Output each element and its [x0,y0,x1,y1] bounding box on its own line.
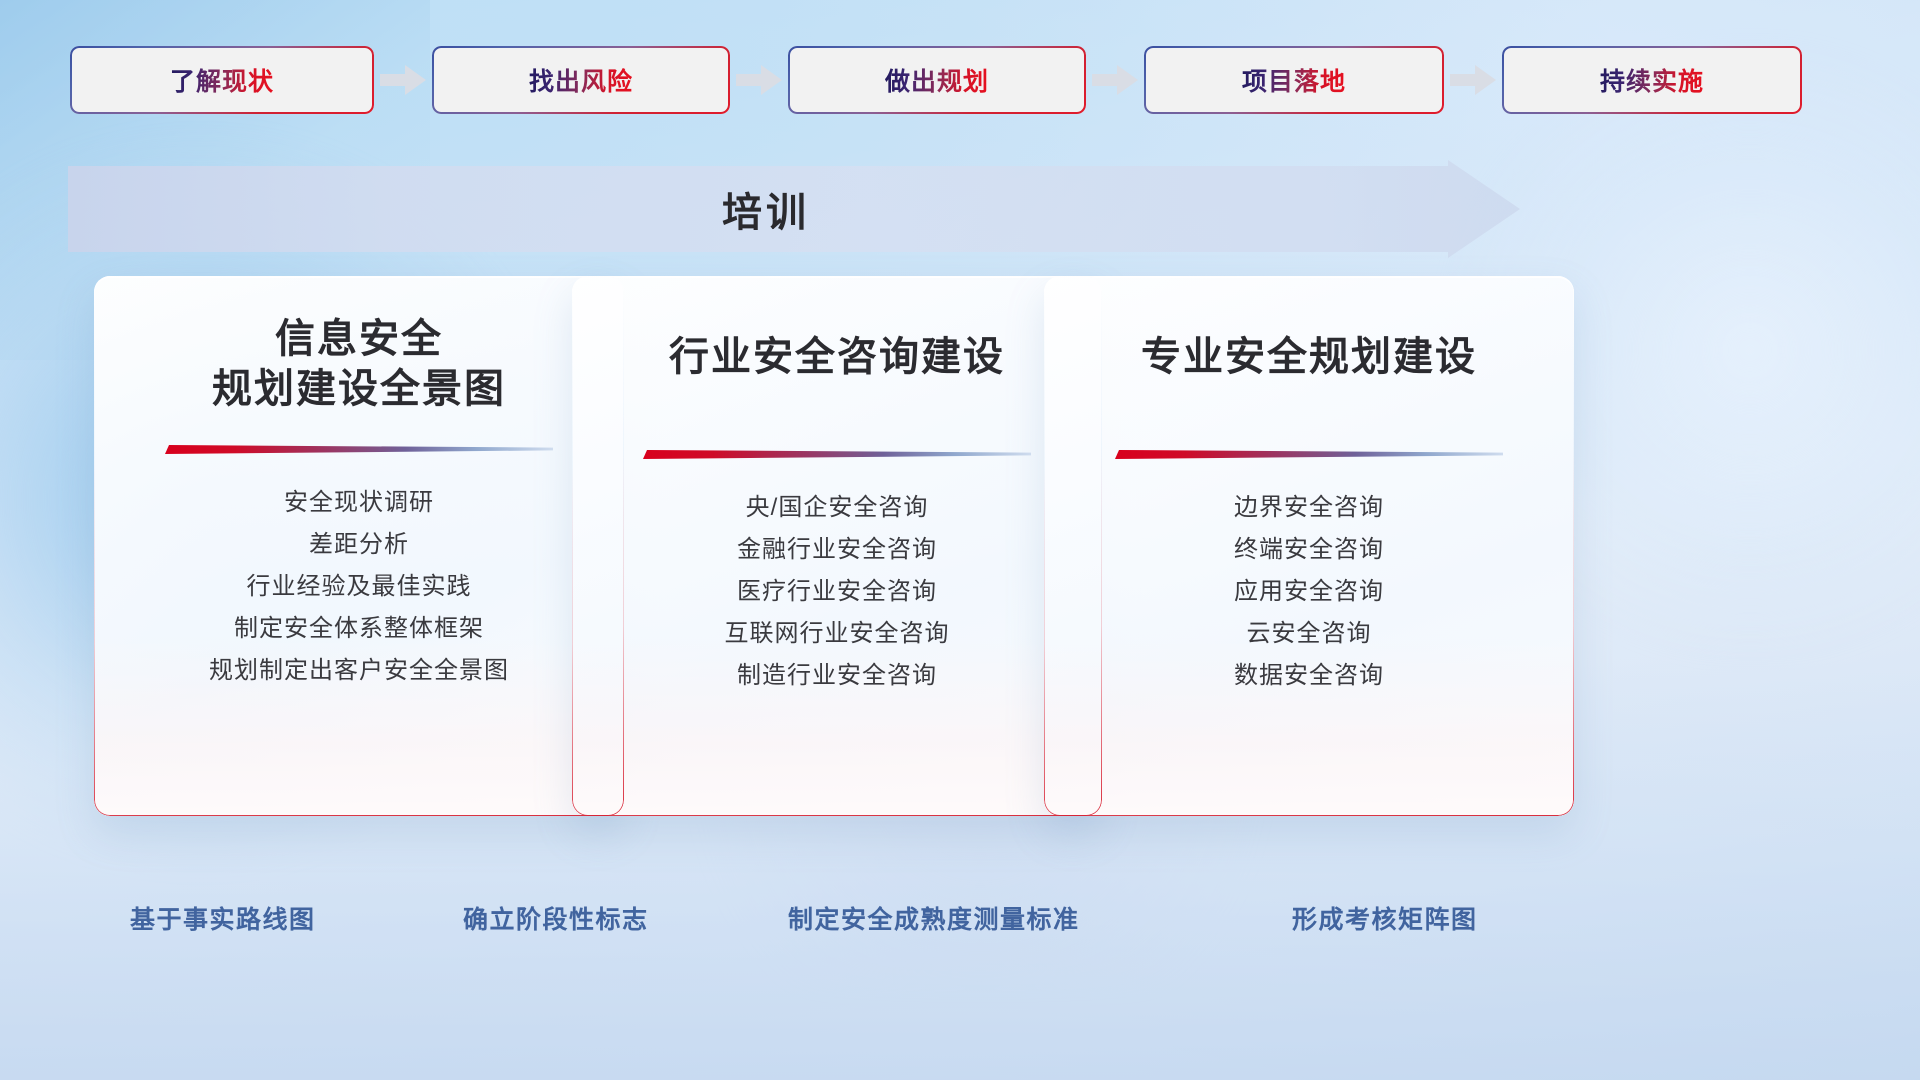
card-divider [165,441,553,457]
training-banner: 培训 [68,160,1520,258]
card-divider [643,446,1031,462]
list-item: 行业经验及最佳实践 [94,575,624,599]
list-item: 规划制定出客户安全全景图 [94,659,624,683]
arrow-right-icon [1450,65,1496,95]
flow-connector-1 [374,60,432,100]
arrow-right-icon [380,65,426,95]
process-step-4[interactable]: 项目落地 [1144,46,1444,114]
flow-connector-2 [730,60,788,100]
card-professional-security-planning[interactable]: 专业安全规划建设 边界安全咨询 终端安全咨询 [1044,276,1574,816]
list-item: 制定安全体系整体框架 [94,617,624,641]
list-item: 制造行业安全咨询 [572,664,1102,688]
card-title-line: 行业安全咨询建设 [594,332,1080,382]
card-title: 行业安全咨询建设 [572,276,1102,382]
list-item: 应用安全咨询 [1044,580,1574,604]
process-step-5-label: 持续实施 [1600,62,1704,98]
list-item: 互联网行业安全咨询 [572,622,1102,646]
process-step-4-label: 项目落地 [1242,62,1346,98]
list-item: 数据安全咨询 [1044,664,1574,688]
caption-row: 基于事实路线图 确立阶段性标志 制定安全成熟度测量标准 形成考核矩阵图 [0,900,1920,970]
caption-roadmap: 基于事实路线图 [130,900,316,936]
card-industry-security-consulting[interactable]: 行业安全咨询建设 央/国企安全咨询 金融行业安全咨询 [572,276,1102,816]
list-item: 安全现状调研 [94,491,624,515]
process-step-2-label: 找出风险 [529,62,633,98]
card-info-security-blueprint[interactable]: 信息安全 规划建设全景图 安全现状调研 差 [94,276,624,816]
process-step-3-label: 做出规划 [885,62,989,98]
process-step-5[interactable]: 持续实施 [1502,46,1802,114]
process-step-1-label: 了解现状 [170,62,274,98]
card-item-list: 央/国企安全咨询 金融行业安全咨询 医疗行业安全咨询 互联网行业安全咨询 制造行… [572,496,1102,688]
arrow-right-icon [736,65,782,95]
card-item-list: 安全现状调研 差距分析 行业经验及最佳实践 制定安全体系整体框架 规划制定出客户… [94,491,624,683]
card-title-line: 专业安全规划建设 [1066,332,1552,382]
gradient-wedge-icon [643,446,1031,462]
cards-row: 信息安全 规划建设全景图 安全现状调研 差 [0,268,1920,878]
list-item: 边界安全咨询 [1044,496,1574,520]
process-step-2[interactable]: 找出风险 [432,46,730,114]
list-item: 差距分析 [94,533,624,557]
list-item: 终端安全咨询 [1044,538,1574,562]
list-item: 医疗行业安全咨询 [572,580,1102,604]
list-item: 云安全咨询 [1044,622,1574,646]
flow-connector-3 [1086,60,1144,100]
card-title: 信息安全 规划建设全景图 [94,276,624,415]
caption-milestones: 确立阶段性标志 [463,900,649,936]
card-title-line: 信息安全 [116,314,602,364]
process-step-1[interactable]: 了解现状 [70,46,374,114]
process-flow: 了解现状 找出风险 做出规划 项目落地 持续实施 [0,0,1920,160]
card-title-line: 规划建设全景图 [116,364,602,414]
gradient-wedge-icon [165,441,553,457]
list-item: 央/国企安全咨询 [572,496,1102,520]
card-divider [1115,446,1503,462]
caption-assessment-matrix: 形成考核矩阵图 [1292,900,1478,936]
banner-label: 培训 [68,160,1520,258]
caption-maturity-standard: 制定安全成熟度测量标准 [788,900,1080,936]
process-step-3[interactable]: 做出规划 [788,46,1086,114]
flow-connector-4 [1444,60,1502,100]
card-title: 专业安全规划建设 [1044,276,1574,382]
card-item-list: 边界安全咨询 终端安全咨询 应用安全咨询 云安全咨询 数据安全咨询 [1044,496,1574,688]
gradient-wedge-icon [1115,446,1503,462]
list-item: 金融行业安全咨询 [572,538,1102,562]
arrow-right-icon [1092,65,1138,95]
